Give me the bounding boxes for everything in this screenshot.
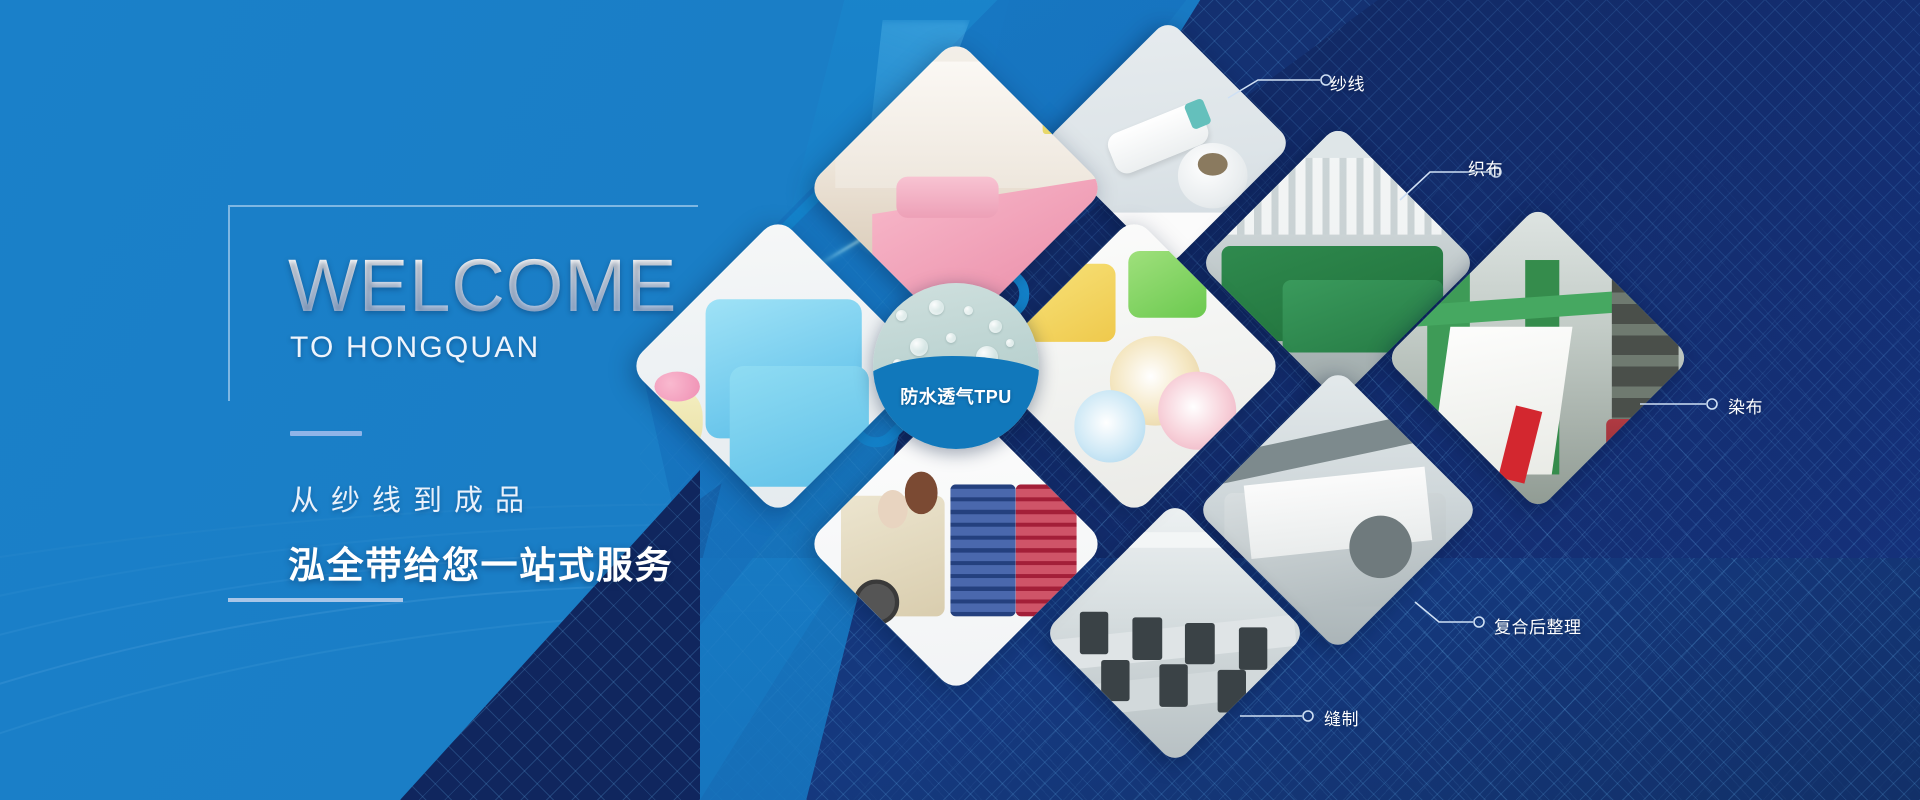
process-label-yarn: 纱线	[1330, 70, 1365, 95]
tagline-cn: 从纱线到成品	[290, 477, 536, 519]
bottom-accent-rule	[228, 598, 403, 602]
tpu-badge[interactable]: 防水透气TPU	[873, 283, 1039, 449]
process-label-dyeing: 染布	[1728, 393, 1763, 418]
accent-rule	[290, 431, 362, 436]
banner-root: WELCOME TO HONGQUAN 从纱线到成品 泓全带给您一站式服务	[0, 0, 1920, 800]
headline-cn: 泓全带给您一站式服务	[288, 535, 673, 589]
process-label-sewing: 缝制	[1324, 705, 1359, 730]
leader-line-lamination	[1415, 596, 1505, 632]
page-title: WELCOME	[288, 249, 677, 323]
leader-line-dyeing	[1640, 394, 1740, 414]
tpu-badge-label: 防水透气TPU	[873, 383, 1039, 409]
process-label-weaving: 织布	[1468, 155, 1503, 180]
process-label-lamination: 复合后整理	[1494, 613, 1582, 638]
page-subtitle: TO HONGQUAN	[290, 333, 540, 363]
